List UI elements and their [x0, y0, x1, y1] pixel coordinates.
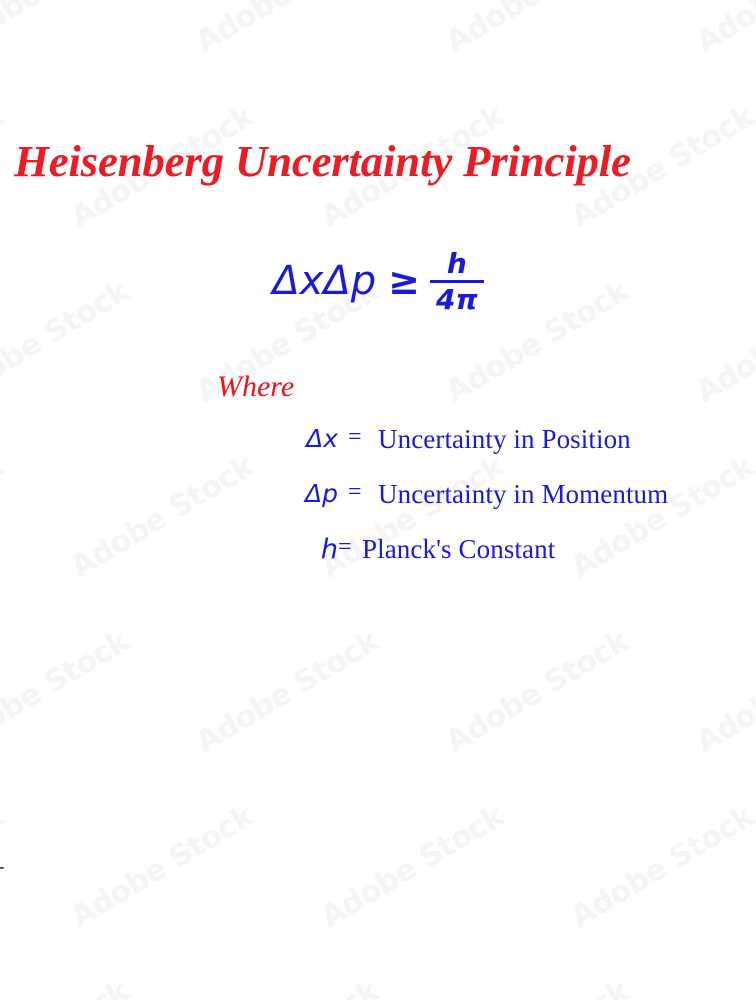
- page-title: Heisenberg Uncertainty Principle: [14, 136, 756, 188]
- formula-fraction: h4π: [430, 249, 484, 315]
- definition-equals-sign: =: [348, 424, 362, 451]
- slide-canvas: Adobe StockAdobe StockAdobe StockAdobe S…: [0, 0, 756, 1000]
- formula-left-hand-side: ΔxΔp: [272, 258, 376, 304]
- uncertainty-formula: ΔxΔp≥h4π: [0, 248, 756, 314]
- stock-credit-text: Adobe Stock | #1851914960: [0, 736, 4, 988]
- definition-row-delta-p: Δp = Uncertainty in Momentum: [0, 479, 756, 534]
- stock-credit-sidebar: Adobe Stock | #1851914960: [0, 0, 34, 1000]
- definition-list: Δx = Uncertainty in Position Δp = Uncert…: [0, 424, 756, 589]
- definition-description: Uncertainty in Position: [378, 424, 631, 455]
- slide-content: Heisenberg Uncertainty Principle ΔxΔp≥h4…: [0, 0, 756, 1000]
- definition-symbol: h: [228, 534, 338, 565]
- definition-equals-sign: =: [338, 534, 352, 561]
- where-label: Where: [217, 370, 294, 404]
- fraction-numerator: h: [430, 249, 484, 279]
- fraction-denominator: 4π: [430, 284, 484, 314]
- formula-relation-operator: ≥: [388, 259, 420, 303]
- definition-row-delta-x: Δx = Uncertainty in Position: [0, 424, 756, 479]
- definition-description: Planck's Constant: [362, 534, 555, 565]
- definition-description: Uncertainty in Momentum: [378, 479, 668, 510]
- definition-symbol: Δp: [228, 479, 338, 508]
- definition-equals-sign: =: [348, 479, 362, 506]
- definition-row-h: h = Planck's Constant: [0, 534, 756, 589]
- definition-symbol: Δx: [228, 424, 338, 453]
